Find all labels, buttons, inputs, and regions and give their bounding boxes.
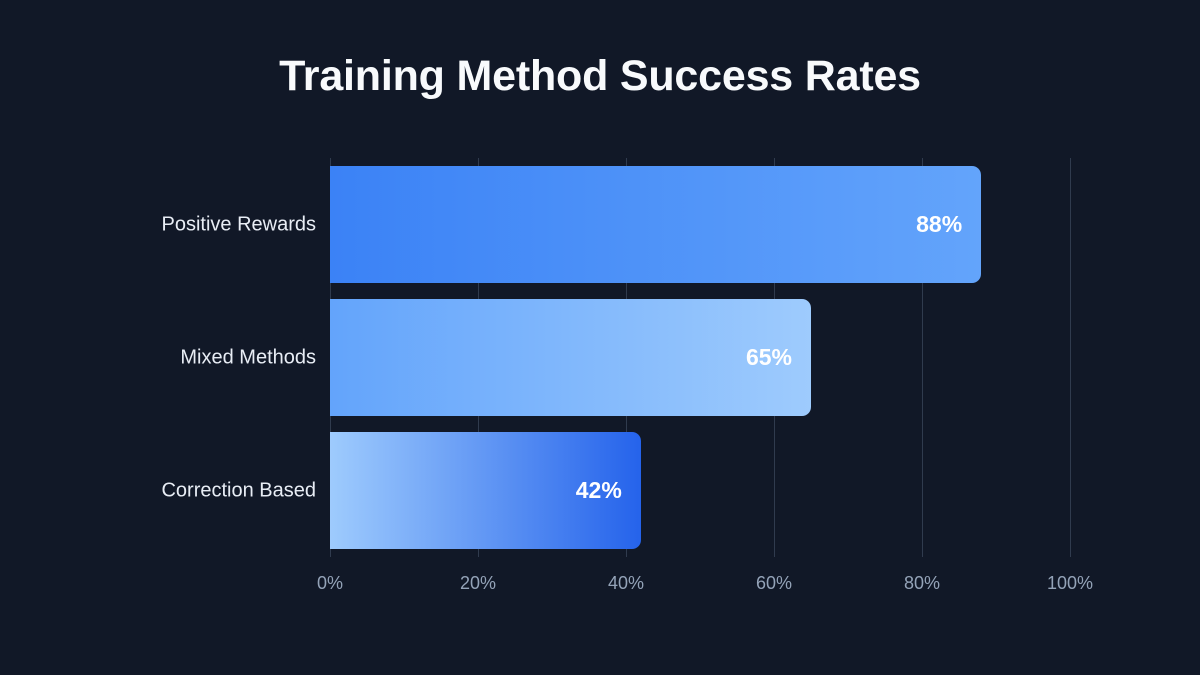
x-axis-tick-label: 0% — [270, 573, 390, 594]
bar-row: 42% — [330, 432, 1070, 549]
x-axis-tick-label: 20% — [418, 573, 538, 594]
x-axis-tick-label: 60% — [714, 573, 834, 594]
y-axis-category-label: Mixed Methods — [16, 346, 316, 369]
x-axis-tick-label: 40% — [566, 573, 686, 594]
bar-row: 65% — [330, 299, 1070, 416]
y-axis-category-labels: Positive RewardsMixed MethodsCorrection … — [0, 0, 316, 675]
bar-value-label: 88% — [916, 213, 962, 236]
bar[interactable]: 42% — [330, 432, 641, 549]
bar-row: 88% — [330, 166, 1070, 283]
bars-layer: 88%65%42% — [330, 158, 1070, 557]
x-axis-tick-label: 100% — [1010, 573, 1130, 594]
bar-value-label: 65% — [746, 346, 792, 369]
y-axis-category-label: Correction Based — [16, 479, 316, 502]
chart-figure: Training Method Success Rates Positive R… — [0, 0, 1200, 675]
bar[interactable]: 88% — [330, 166, 981, 283]
bar[interactable]: 65% — [330, 299, 811, 416]
x-axis-tick-label: 80% — [862, 573, 982, 594]
gridline-100pct — [1070, 158, 1071, 557]
y-axis-category-label: Positive Rewards — [16, 213, 316, 236]
bar-value-label: 42% — [576, 479, 622, 502]
plot-area: 88%65%42% — [330, 158, 1070, 557]
